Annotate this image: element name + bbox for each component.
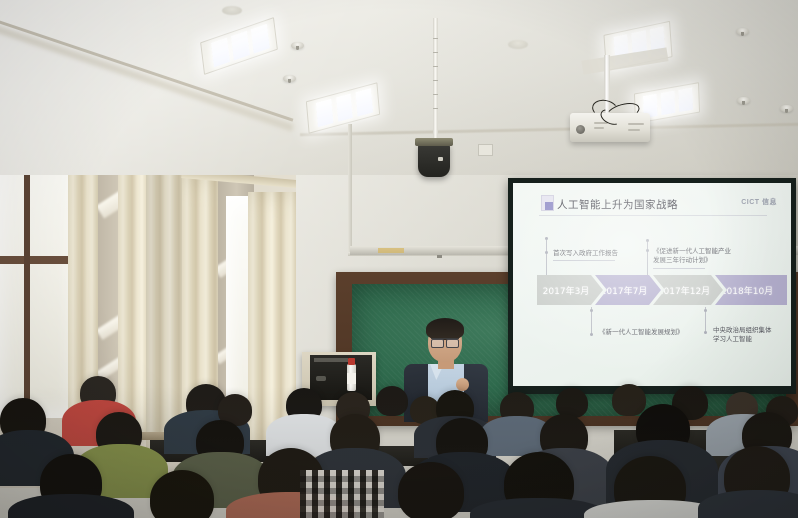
presenter-glasses <box>431 338 459 346</box>
podium-handle <box>316 376 326 381</box>
leader-dot <box>590 333 593 336</box>
projection-screen: 人工智能上升为国家战略 CICT 信息 首次写入政府工作报告 《促进新一代人工智… <box>513 183 791 386</box>
leader-dot <box>704 309 707 312</box>
annotation-underline <box>653 268 705 269</box>
slide-annotation-below-1: 《新一代人工智能发展规划》 <box>599 328 727 337</box>
timeline-step-1: 2017年3月 <box>537 275 603 305</box>
timeline-step-3-label: 2017年12月 <box>658 284 710 297</box>
audience-head <box>376 386 408 416</box>
slide-annotation-below-2: 中央政治局组织集体 学习人工智能 <box>713 326 785 345</box>
wall-speaker <box>478 144 493 156</box>
timeline-step-1-label: 2017年3月 <box>543 284 590 297</box>
audience-plaid-shirt <box>300 470 384 518</box>
audience-head <box>398 462 464 518</box>
timeline-step-4: 2018年10月 <box>715 275 787 305</box>
presenter-hair <box>426 318 464 340</box>
slide-annotation-above-2: 《促进新一代人工智能产业 发展三年行动计划》 <box>653 247 771 266</box>
ceiling-vent <box>222 6 242 15</box>
sprinkler-head <box>737 97 750 104</box>
leader-dot <box>590 309 593 312</box>
leader-line <box>647 242 648 276</box>
slide-title-marker-icon <box>541 195 554 211</box>
camera-mount-pole <box>433 18 438 143</box>
timeline-step-3: 2017年12月 <box>653 275 723 305</box>
timeline-step-2-label: 2017年7月 <box>601 284 648 297</box>
slide-logo: CICT 信息 <box>741 197 777 207</box>
wall-conduit <box>348 124 352 254</box>
ceiling-vent <box>508 40 528 49</box>
sprinkler-head <box>283 75 296 82</box>
leader-line <box>546 240 547 276</box>
sprinkler-head <box>780 105 793 112</box>
timeline-step-4-label: 2018年10月 <box>721 284 773 297</box>
leader-dot <box>545 251 548 254</box>
leader-dot <box>704 331 707 334</box>
timeline-step-2: 2017年7月 <box>595 275 661 305</box>
presenter-hand <box>456 378 469 391</box>
water-bottle <box>347 364 356 391</box>
sprinkler-head <box>736 28 749 35</box>
sprinkler-head <box>291 42 304 49</box>
podium-label <box>314 358 348 362</box>
slide-title-underline <box>539 215 767 216</box>
slide-annotation-above-1: 首次写入政府工作报告 <box>553 249 645 258</box>
lecture-hall-photo: 人工智能上升为国家战略 CICT 信息 首次写入政府工作报告 《促进新一代人工智… <box>0 0 798 518</box>
slide-title: 人工智能上升为国家战略 <box>557 197 678 212</box>
leader-dot <box>646 249 649 252</box>
audience-head <box>612 384 646 416</box>
annotation-underline <box>553 260 615 261</box>
ptz-dome-camera <box>418 143 450 177</box>
